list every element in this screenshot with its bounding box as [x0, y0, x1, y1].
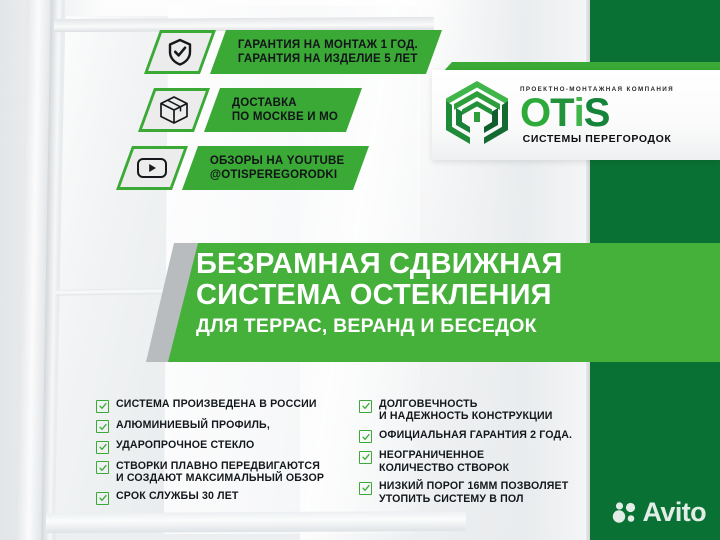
- feature-label: СРОК СЛУЖБЫ 30 ЛЕТ: [116, 490, 239, 502]
- badge-delivery-text-panel: ДОСТАВКА ПО МОСКВЕ И МО: [204, 88, 362, 132]
- list-item: СТВОРКИ ПЛАВНО ПЕРЕДВИГАЮТСЯ И СОЗДАЮТ М…: [96, 460, 333, 485]
- list-item: АЛЮМИНИЕВЫЙ ПРОФИЛЬ,: [96, 419, 333, 434]
- checkbox-check-icon: [96, 420, 109, 433]
- checkbox-check-icon: [359, 451, 372, 464]
- feature-label: ОФИЦИАЛЬНАЯ ГАРАНТИЯ 2 ГОДА.: [379, 429, 572, 441]
- feature-label: ДОЛГОВЕЧНОСТЬ И НАДЕЖНОСТЬ КОНСТРУКЦИИ: [379, 398, 553, 423]
- list-item: ДОЛГОВЕЧНОСТЬ И НАДЕЖНОСТЬ КОНСТРУКЦИИ: [359, 398, 596, 423]
- headline-line3: ДЛЯ ТЕРРАС, ВЕРАНД И БЕСЕДОК: [196, 314, 676, 338]
- checkbox-check-icon: [96, 400, 109, 413]
- company-logo-card: ПРОЕКТНО-МОНТАЖНАЯ КОМПАНИЯ O T i S СИСТ…: [432, 70, 720, 160]
- feature-lists: СИСТЕМА ПРОИЗВЕДЕНА В РОССИИ АЛЮМИНИЕВЫЙ…: [96, 398, 596, 511]
- shield-check-icon: [167, 38, 193, 66]
- shield-check-icon-box: [144, 30, 216, 74]
- checkbox-check-icon: [359, 482, 372, 495]
- feature-label: НИЗКИЙ ПОРОГ 16ММ ПОЗВОЛЯЕТ УТОПИТЬ СИСТ…: [379, 480, 568, 505]
- feature-column-right: ДОЛГОВЕЧНОСТЬ И НАДЕЖНОСТЬ КОНСТРУКЦИИ О…: [359, 398, 596, 511]
- checkbox-check-icon: [96, 441, 109, 454]
- feature-label: СТВОРКИ ПЛАВНО ПЕРЕДВИГАЮТСЯ И СОЗДАЮТ М…: [116, 460, 324, 485]
- avito-watermark: Avito: [612, 497, 707, 528]
- checkbox-check-icon: [96, 461, 109, 474]
- avito-label: Avito: [643, 497, 707, 528]
- list-item: СРОК СЛУЖБЫ 30 ЛЕТ: [96, 490, 333, 505]
- headline-line1: БЕЗРАМНАЯ СДВИЖНАЯ: [196, 249, 676, 280]
- advertisement-image: ГАРАНТИЯ НА МОНТАЖ 1 ГОД. ГАРАНТИЯ НА ИЗ…: [0, 0, 720, 540]
- feature-label: СИСТЕМА ПРОИЗВЕДЕНА В РОССИИ: [116, 398, 317, 410]
- badge-warranty-line1: ГАРАНТИЯ НА МОНТАЖ 1 ГОД.: [238, 39, 418, 53]
- badge-warranty-text-panel: ГАРАНТИЯ НА МОНТАЖ 1 ГОД. ГАРАНТИЯ НА ИЗ…: [210, 30, 442, 74]
- youtube-play-icon-box: [116, 146, 188, 190]
- feature-label: АЛЮМИНИЕВЫЙ ПРОФИЛЬ,: [116, 419, 270, 431]
- logo-letter-s: S: [584, 94, 610, 132]
- feature-label: НЕОГРАНИЧЕННОЕ КОЛИЧЕСТВО СТВОРОК: [379, 449, 509, 474]
- package-box-icon: [158, 95, 190, 125]
- list-item: УДАРОПРОЧНОЕ СТЕКЛО: [96, 439, 333, 454]
- package-box-icon-box: [138, 88, 210, 132]
- badge-delivery: ДОСТАВКА ПО МОСКВЕ И МО: [146, 88, 354, 132]
- badge-youtube-line1: ОБЗОРЫ НА YOUTUBE: [210, 155, 345, 169]
- list-item: ОФИЦИАЛЬНАЯ ГАРАНТИЯ 2 ГОДА.: [359, 429, 596, 444]
- headline-line2: СИСТЕМА ОСТЕКЛЕНИЯ: [196, 280, 676, 311]
- door-rail-bottom: [46, 511, 466, 533]
- feature-column-left: СИСТЕМА ПРОИЗВЕДЕНА В РОССИИ АЛЮМИНИЕВЫЙ…: [96, 398, 333, 511]
- badge-delivery-line2: ПО МОСКВЕ И МО: [232, 110, 338, 124]
- list-item: СИСТЕМА ПРОИЗВЕДЕНА В РОССИИ: [96, 398, 333, 413]
- badge-youtube[interactable]: ОБЗОРЫ НА YOUTUBE @OTISPEREGORODKI: [124, 146, 361, 190]
- badge-warranty: ГАРАНТИЯ НА МОНТАЖ 1 ГОД. ГАРАНТИЯ НА ИЗ…: [152, 30, 434, 74]
- checkbox-check-icon: [359, 430, 372, 443]
- youtube-play-icon: [136, 156, 168, 180]
- feature-label: УДАРОПРОЧНОЕ СТЕКЛО: [116, 439, 254, 451]
- badge-youtube-line2: @OTISPEREGORODKI: [210, 168, 345, 182]
- hexagon-cube-icon: [440, 78, 514, 152]
- badge-youtube-text-panel: ОБЗОРЫ НА YOUTUBE @OTISPEREGORODKI: [182, 146, 369, 190]
- list-item: НИЗКИЙ ПОРОГ 16ММ ПОЗВОЛЯЕТ УТОПИТЬ СИСТ…: [359, 480, 596, 505]
- badge-warranty-line2: ГАРАНТИЯ НА ИЗДЕЛИЕ 5 ЛЕТ: [238, 52, 418, 66]
- avito-dots-icon: [612, 501, 638, 525]
- badge-delivery-line1: ДОСТАВКА: [232, 97, 338, 111]
- logo-letter-o: O: [520, 94, 550, 132]
- checkbox-check-icon: [96, 492, 109, 505]
- logo-wordmark: O T i S: [520, 94, 674, 132]
- logo-letter-i: i: [574, 94, 584, 132]
- list-item: НЕОГРАНИЧЕННОЕ КОЛИЧЕСТВО СТВОРОК: [359, 449, 596, 474]
- page-title: БЕЗРАМНАЯ СДВИЖНАЯ СИСТЕМА ОСТЕКЛЕНИЯ ДЛ…: [196, 249, 676, 338]
- logo-tagline-bottom: СИСТЕМЫ ПЕРЕГОРОДОК: [520, 133, 674, 145]
- logo-letter-t: T: [550, 94, 573, 132]
- checkbox-check-icon: [359, 400, 372, 413]
